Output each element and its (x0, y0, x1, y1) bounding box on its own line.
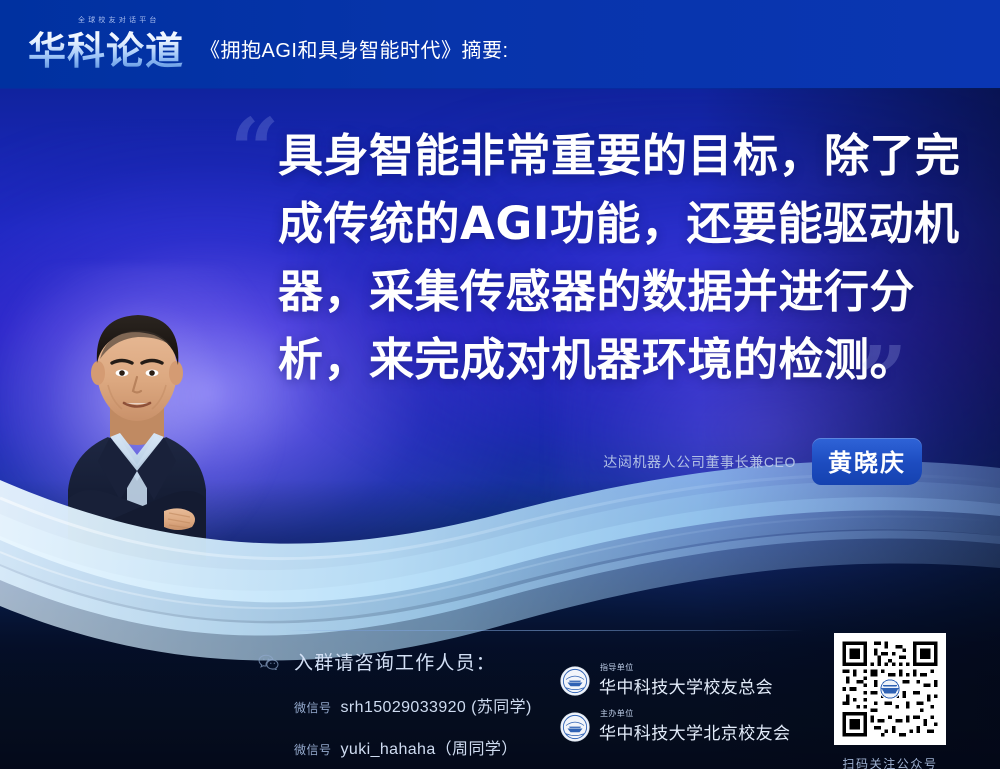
qr-section: 扫码关注公众号 (834, 633, 946, 769)
poster-canvas: 全球校友对话平台 华科论道 《拥抱AGI和具身智能时代》摘要: (0, 0, 1000, 769)
quote-open-mark: “ (230, 108, 279, 194)
qr-caption: 扫码关注公众号 (834, 755, 946, 769)
organizations: 指导单位 华中科技大学校友总会 主办单位 华中科技大学北京校友会 (560, 664, 790, 756)
wechat-id[interactable]: srh15029033920 (苏同学) (341, 693, 532, 717)
quote-line: 具身智能非常重要的目标，除了完 (278, 122, 958, 190)
wechat-icon (258, 654, 280, 670)
qr-code[interactable] (834, 633, 946, 745)
university-seal-icon (560, 712, 590, 742)
organization-text: 主办单位 华中科技大学北京校友会 (599, 710, 790, 744)
quote-line: 析，来完成对机器环境的检测。 (278, 326, 958, 394)
quote-line: 成传统的AGI功能，还要能驱动机 (278, 190, 958, 258)
footer: 入群请咨询工作人员： 微信号 srh15029033920 (苏同学) 微信号 … (0, 612, 1000, 769)
attribution: 达闼机器人公司董事长兼CEO 黄晓庆 (0, 438, 1000, 485)
organization-text: 指导单位 华中科技大学校友总会 (599, 664, 773, 698)
organization-name: 华中科技大学北京校友会 (599, 719, 790, 744)
wechat-id[interactable]: yuki_hahaha（周同学） (341, 735, 518, 759)
university-seal-icon (560, 666, 590, 696)
organization-row: 主办单位 华中科技大学北京校友会 (560, 710, 790, 744)
wechat-contact-row: 微信号 yuki_hahaha（周同学） (294, 735, 532, 759)
footer-divider (288, 630, 804, 631)
logo-tagline: 全球校友对话平台 (78, 15, 160, 25)
organization-kind: 指导单位 (600, 662, 634, 673)
header-content: 全球校友对话平台 华科论道 《拥抱AGI和具身智能时代》摘要: (28, 0, 509, 88)
wechat-contact-row: 微信号 srh15029033920 (苏同学) (294, 693, 532, 717)
speaker-role: 达闼机器人公司董事长兼CEO (603, 452, 796, 472)
wechat-label: 微信号 (294, 741, 332, 758)
contact-title: 入群请咨询工作人员： (294, 648, 496, 675)
contact-heading: 入群请咨询工作人员： (258, 648, 532, 675)
quote-line: 器，采集传感器的数据并进行分 (278, 258, 958, 326)
quote-close-mark: ” (858, 336, 907, 422)
wechat-label: 微信号 (294, 699, 332, 716)
logo-wordmark: 华科论道 (28, 22, 184, 70)
page-title: 《拥抱AGI和具身智能时代》摘要: (200, 26, 509, 63)
organization-row: 指导单位 华中科技大学校友总会 (560, 664, 790, 698)
organization-name: 华中科技大学校友总会 (599, 673, 773, 698)
organization-kind: 主办单位 (600, 708, 634, 719)
contact-section: 入群请咨询工作人员： 微信号 srh15029033920 (苏同学) 微信号 … (258, 648, 532, 759)
quote-text: 具身智能非常重要的目标，除了完 成传统的AGI功能，还要能驱动机 器，采集传感器… (278, 122, 958, 394)
header-bar: 全球校友对话平台 华科论道 《拥抱AGI和具身智能时代》摘要: (0, 0, 1000, 88)
brand-logo[interactable]: 全球校友对话平台 华科论道 (28, 18, 184, 70)
speaker-name-badge: 黄晓庆 (812, 438, 922, 485)
